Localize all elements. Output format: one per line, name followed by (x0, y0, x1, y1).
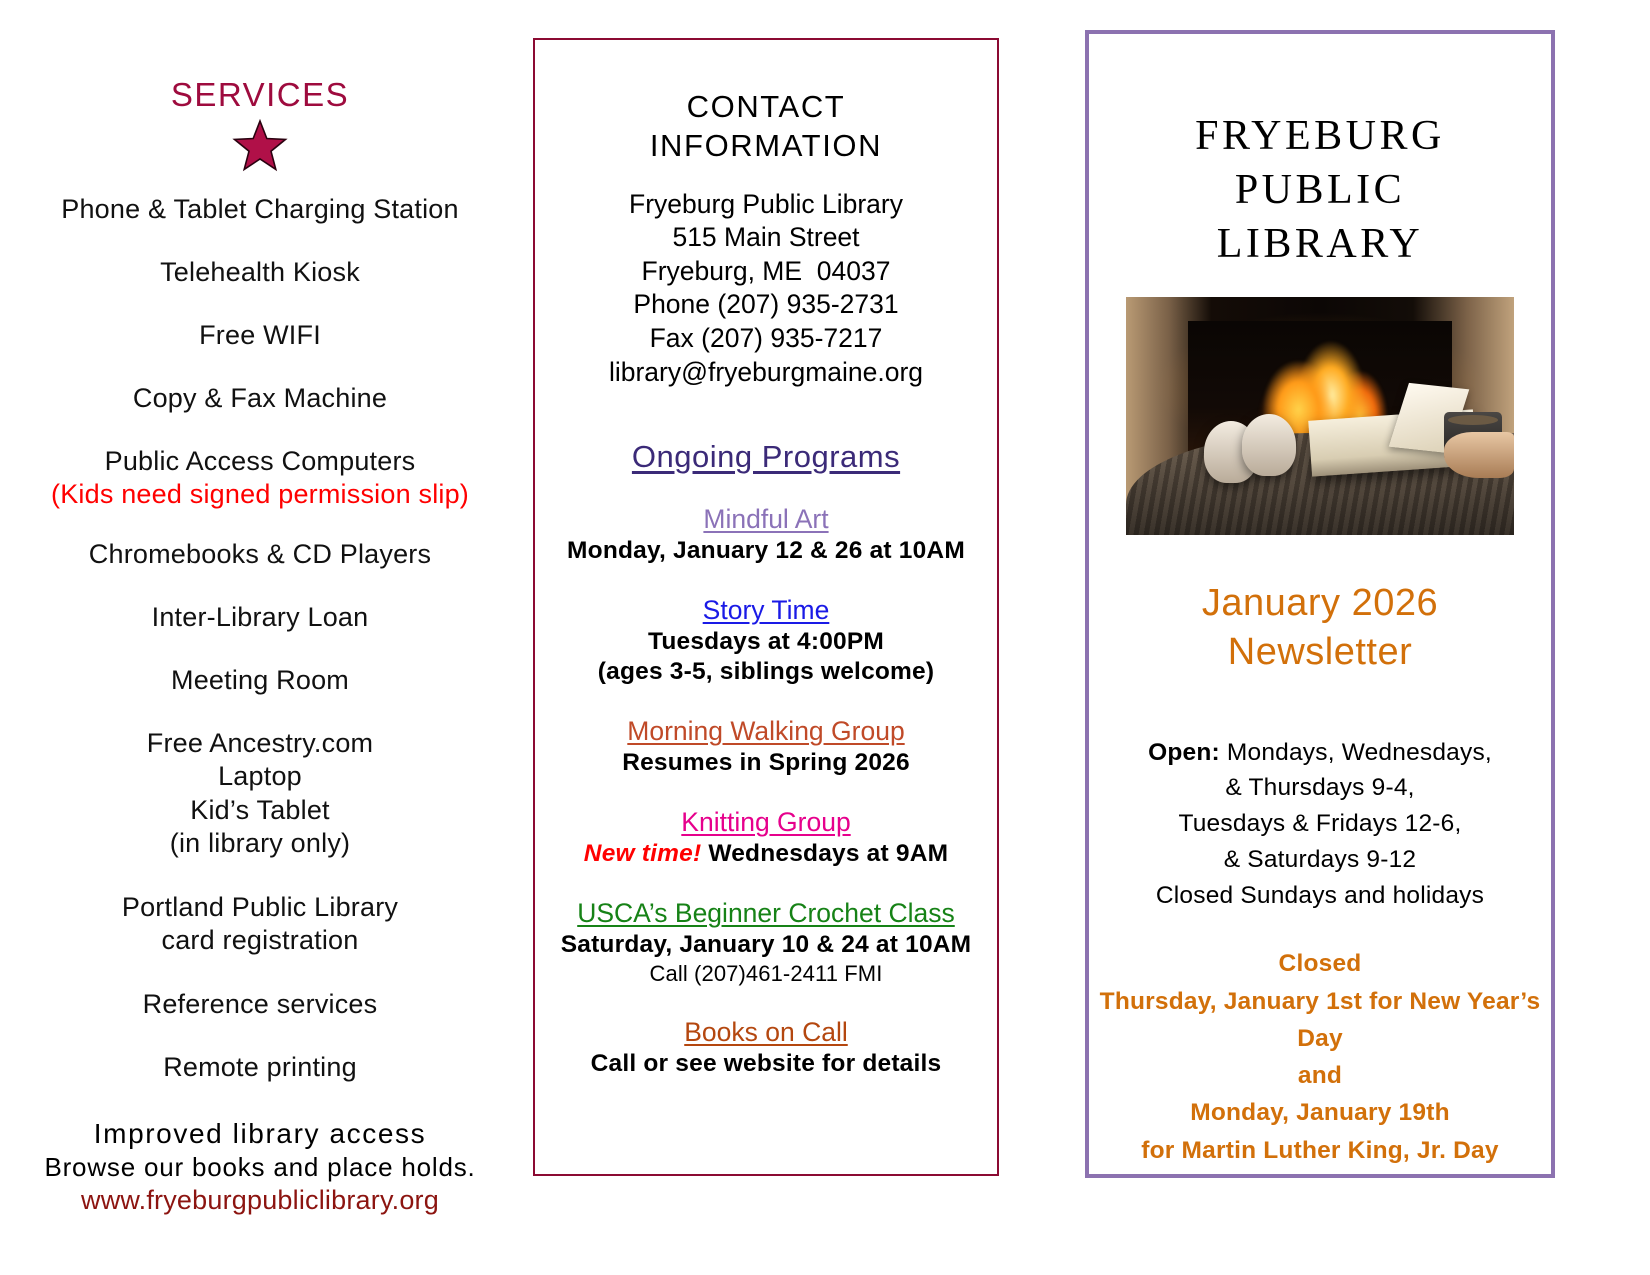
closure-new-years: Thursday, January 1st for New Year’s Day (1089, 983, 1551, 1057)
improved-access-heading: Improved library access (0, 1118, 520, 1150)
program-title: Books on Call (535, 1016, 997, 1049)
page-title: FRYEBURG PUBLIC LIBRARY (1089, 110, 1551, 271)
program-knitting-group: Knitting Group New time! Wednesdays at 9… (535, 806, 997, 869)
contact-street: 515 Main Street (535, 221, 997, 255)
service-item: Free WIFI (0, 319, 520, 352)
service-item: Chromebooks & CD Players (0, 538, 520, 571)
program-detail: Tuesdays at 4:00PM (535, 627, 997, 657)
service-item-label: Public Access Computers (105, 446, 416, 476)
new-time-badge: New time! (584, 840, 702, 867)
service-item-public-access-computers: Public Access Computers (Kids need signe… (0, 445, 520, 510)
program-fmi-phone: Call (207)461-2411 FMI (535, 960, 997, 988)
newsletter-month: January 2026 (1089, 579, 1551, 628)
program-detail: Call or see website for details (535, 1049, 997, 1079)
newsletter-label: Newsletter (1089, 628, 1551, 677)
hours-closed-sundays: Closed Sundays and holidays (1089, 878, 1551, 914)
hours-line-text: Mondays, Wednesdays, (1220, 739, 1492, 766)
library-website-url[interactable]: www.fryeburgpubliclibrary.org (0, 1185, 520, 1216)
program-title: USCA’s Beginner Crochet Class (535, 897, 997, 930)
service-item: Phone & Tablet Charging Station (0, 193, 520, 226)
service-item: Meeting Room (0, 664, 520, 697)
cover-title-line-3: LIBRARY (1089, 218, 1551, 272)
library-hours: Open: Mondays, Wednesdays, & Thursdays 9… (1089, 735, 1551, 914)
star-icon (0, 119, 520, 175)
service-item-permission-note: (Kids need signed permission slip) (0, 478, 520, 510)
service-item-sub: card registration (0, 924, 520, 958)
program-mindful-art: Mindful Art Monday, January 12 & 26 at 1… (535, 503, 997, 566)
program-detail: Resumes in Spring 2026 (535, 748, 997, 778)
closure-heading: Closed (1089, 945, 1551, 982)
newsletter-month-heading: January 2026 Newsletter (1089, 579, 1551, 676)
service-item: Inter-Library Loan (0, 601, 520, 634)
services-panel: SERVICES Phone & Tablet Charging Station… (0, 0, 520, 1275)
program-title: Knitting Group (535, 806, 997, 839)
holiday-closures: Closed Thursday, January 1st for New Yea… (1089, 945, 1551, 1168)
hours-line: Tuesdays & Fridays 12-6, (1089, 806, 1551, 842)
hours-line: & Saturdays 9-12 (1089, 842, 1551, 878)
program-title: Story Time (535, 594, 997, 627)
contact-details: Fryeburg Public Library 515 Main Street … (535, 188, 997, 390)
service-item-sub: Kid’s Tablet (0, 794, 520, 828)
contact-email[interactable]: library@fryeburgmaine.org (535, 356, 997, 390)
services-list: Phone & Tablet Charging Station Teleheal… (0, 193, 520, 1084)
photo-slipper-right (1242, 414, 1296, 476)
closure-mlk-date: Monday, January 19th (1089, 1094, 1551, 1131)
program-usca-crochet-class: USCA’s Beginner Crochet Class Saturday, … (535, 897, 997, 988)
contact-heading-line-1: CONTACT (535, 88, 997, 127)
cover-title-line-2: PUBLIC (1089, 164, 1551, 218)
photo-hand (1444, 432, 1514, 478)
contact-heading-line-2: INFORMATION (535, 127, 997, 166)
service-item: Copy & Fax Machine (0, 382, 520, 415)
service-item-sub: Laptop (0, 760, 520, 794)
hours-line: Open: Mondays, Wednesdays, (1089, 735, 1551, 771)
contact-library-name: Fryeburg Public Library (535, 188, 997, 222)
ongoing-programs-heading: Ongoing Programs (535, 439, 997, 475)
contact-programs-panel: CONTACT INFORMATION Fryeburg Public Libr… (533, 38, 999, 1176)
fireplace-reading-photo (1126, 297, 1514, 535)
service-item-label: Portland Public Library (122, 892, 398, 922)
program-title: Morning Walking Group (535, 715, 997, 748)
program-story-time: Story Time Tuesdays at 4:00PM (ages 3-5,… (535, 594, 997, 687)
contact-city-state-zip: Fryeburg, ME 04037 (535, 255, 997, 289)
brochure-page: SERVICES Phone & Tablet Charging Station… (0, 0, 1650, 1275)
program-books-on-call: Books on Call Call or see website for de… (535, 1016, 997, 1079)
program-detail: (ages 3-5, siblings welcome) (535, 657, 997, 687)
service-item-sub: (in library only) (0, 827, 520, 861)
closure-conjunction: and (1089, 1057, 1551, 1094)
contact-information-heading: CONTACT INFORMATION (535, 88, 997, 166)
program-morning-walking-group: Morning Walking Group Resumes in Spring … (535, 715, 997, 778)
service-item-label: Free Ancestry.com (147, 728, 373, 758)
service-item: Remote printing (0, 1051, 520, 1084)
improved-access-subtext: Browse our books and place holds. (0, 1152, 520, 1183)
closure-mlk-label: for Martin Luther King, Jr. Day (1089, 1132, 1551, 1169)
program-detail-text: Wednesdays at 9AM (701, 840, 948, 867)
program-title: Mindful Art (535, 503, 997, 536)
service-item: Reference services (0, 988, 520, 1021)
program-detail: Saturday, January 10 & 24 at 10AM (535, 930, 997, 960)
hours-open-label: Open: (1148, 739, 1220, 766)
hours-line: & Thursdays 9-4, (1089, 770, 1551, 806)
cover-title-line-1: FRYEBURG (1089, 110, 1551, 164)
program-detail: Monday, January 12 & 26 at 10AM (535, 536, 997, 566)
service-item-ancestry: Free Ancestry.com Laptop Kid’s Tablet (i… (0, 727, 520, 861)
program-detail: New time! Wednesdays at 9AM (535, 839, 997, 869)
cover-panel: FRYEBURG PUBLIC LIBRARY January 2026 New… (1085, 30, 1555, 1178)
contact-phone: Phone (207) 935-2731 (535, 288, 997, 322)
services-heading: SERVICES (0, 78, 520, 111)
contact-fax: Fax (207) 935-7217 (535, 322, 997, 356)
service-item-portland-card: Portland Public Library card registratio… (0, 891, 520, 958)
service-item: Telehealth Kiosk (0, 256, 520, 289)
